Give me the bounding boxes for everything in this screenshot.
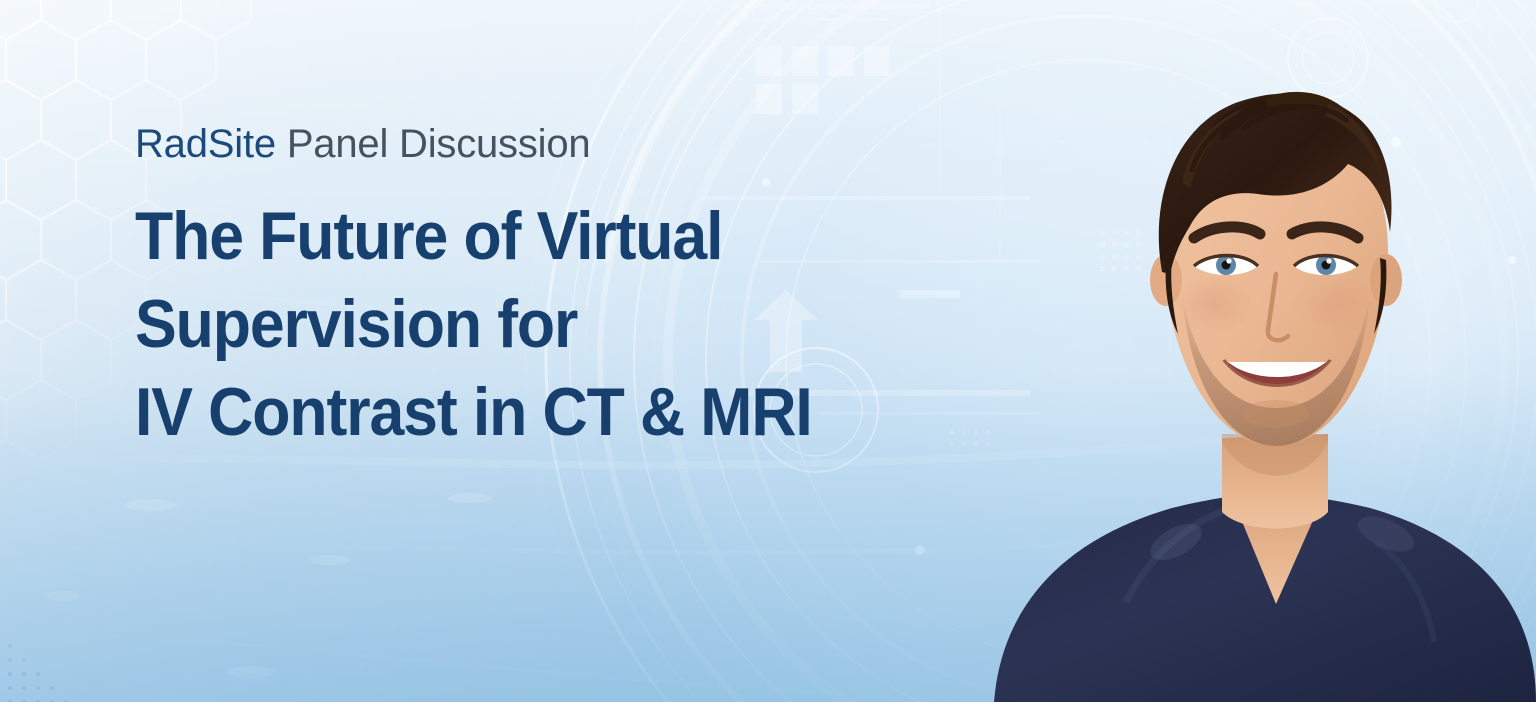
headline-line-1: The Future of Virtual xyxy=(135,192,889,280)
headline-line-2: Supervision for xyxy=(135,280,889,368)
eyebrow-text: RadSite Panel Discussion xyxy=(135,118,955,170)
headline-line-3: IV Contrast in CT & MRI xyxy=(135,368,889,456)
eyebrow-rest: Panel Discussion xyxy=(276,122,591,166)
webinar-promo-banner: RadSite Panel Discussion The Future of V… xyxy=(0,0,1536,702)
dot-grid-icon xyxy=(0,582,180,702)
eyebrow-brand: RadSite xyxy=(135,122,276,166)
avatar xyxy=(976,42,1536,702)
text-block: RadSite Panel Discussion The Future of V… xyxy=(135,118,955,456)
page-title: The Future of Virtual Supervision for IV… xyxy=(135,192,889,456)
